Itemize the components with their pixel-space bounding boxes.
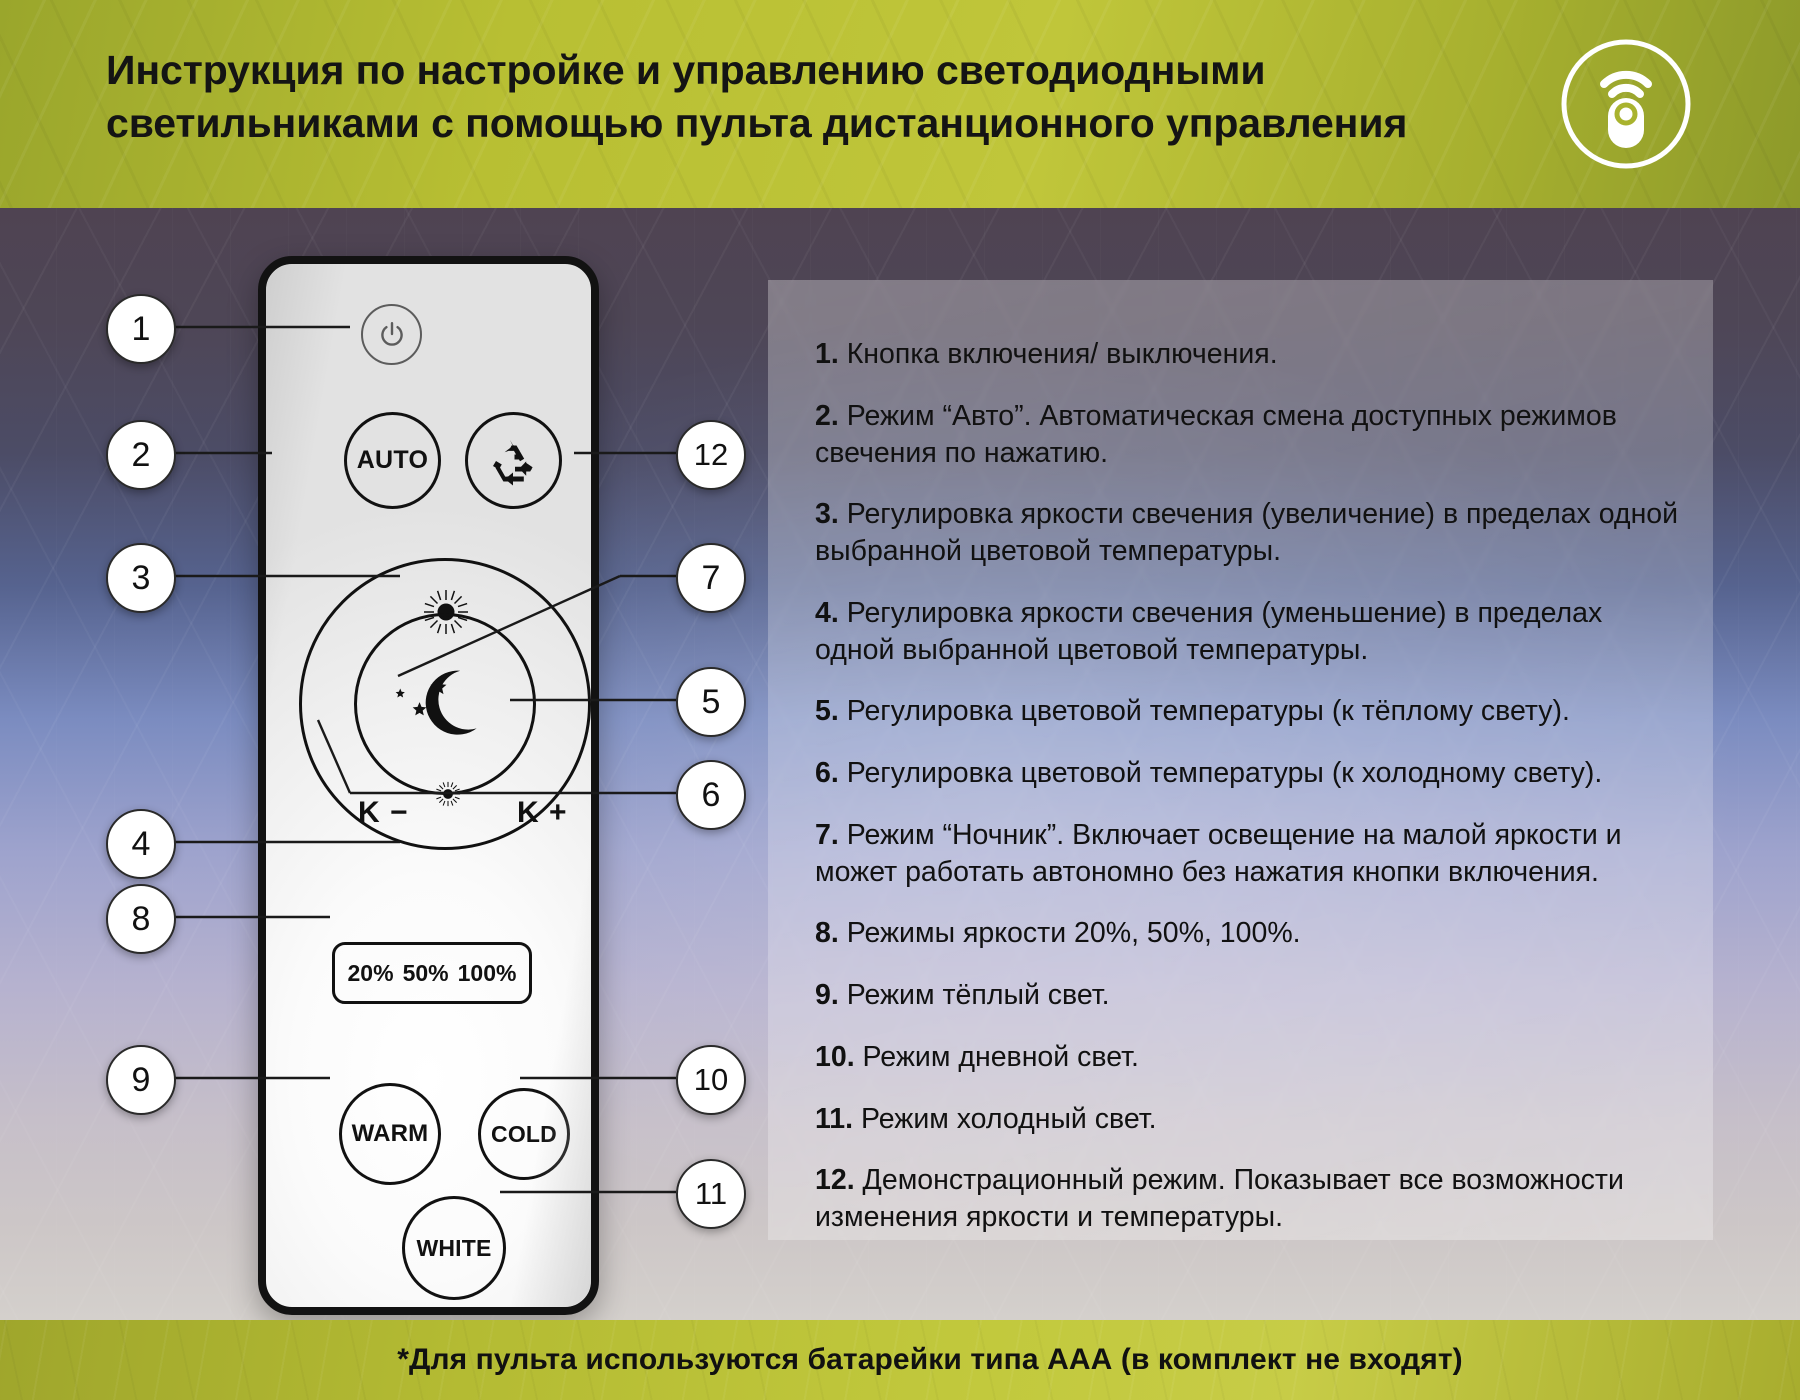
callout-2[interactable]: 2 <box>106 420 176 490</box>
page-title: Инструкция по настройке и управлению све… <box>106 44 1446 151</box>
power-icon <box>377 320 407 350</box>
callout-5[interactable]: 5 <box>676 667 746 737</box>
legend-text-2: Режим “Авто”. Автоматическая смена досту… <box>815 400 1617 469</box>
warm-button-label: WARM <box>352 1120 429 1148</box>
legend-item-3: 3. Регулировка яркости свечения (увеличе… <box>815 496 1685 570</box>
legend-text-11: Режим холодный свет. <box>861 1103 1157 1135</box>
moon-stars-icon <box>391 660 499 748</box>
legend-num-10: 10. <box>815 1041 855 1073</box>
k-minus-button[interactable]: K − <box>358 796 409 830</box>
infographic-page: Инструкция по настройке и управлению све… <box>0 0 1800 1400</box>
legend-item-2: 2. Режим “Авто”. Автоматическая смена до… <box>815 398 1685 472</box>
auto-button-label: AUTO <box>357 446 429 475</box>
cold-button[interactable]: COLD <box>478 1088 570 1180</box>
legend-text-3: Регулировка яркости свечения (увеличение… <box>815 498 1678 567</box>
callout-4[interactable]: 4 <box>106 809 176 879</box>
page-footer: *Для пульта используются батарейки типа … <box>0 1320 1800 1400</box>
legend-list: 1. Кнопка включения/ выключения. 2. Режи… <box>815 336 1685 1261</box>
demo-button[interactable] <box>465 412 562 509</box>
callout-3[interactable]: 3 <box>106 543 176 613</box>
white-button[interactable]: WHITE <box>402 1196 506 1300</box>
callout-11[interactable]: 11 <box>676 1159 746 1229</box>
preset-50[interactable]: 50% <box>403 960 449 987</box>
k-plus-button[interactable]: K + <box>517 796 568 830</box>
night-mode-button[interactable] <box>354 613 536 795</box>
legend-item-4: 4. Регулировка яркости свечения (уменьше… <box>815 595 1685 669</box>
legend-text-8: Режимы яркости 20%, 50%, 100%. <box>847 917 1301 949</box>
legend-item-11: 11. Режим холодный свет. <box>815 1101 1685 1138</box>
legend-num-6: 6. <box>815 757 839 789</box>
main-content: AUTO <box>0 208 1800 1320</box>
legend-num-9: 9. <box>815 979 839 1011</box>
warm-button[interactable]: WARM <box>339 1083 441 1185</box>
legend-text-12: Демонстрационный режим. Показывает все в… <box>815 1164 1624 1233</box>
legend-text-6: Регулировка цветовой температуры (к холо… <box>847 757 1603 789</box>
legend-num-2: 2. <box>815 400 839 432</box>
legend-item-9: 9. Режим тёплый свет. <box>815 977 1685 1014</box>
page-title-line1: Инструкция по настройке и управлению све… <box>106 47 1266 93</box>
legend-num-12: 12. <box>815 1164 855 1196</box>
legend-text-4: Регулировка яркости свечения (уменьшение… <box>815 597 1602 666</box>
cold-button-label: COLD <box>491 1121 557 1148</box>
legend-num-5: 5. <box>815 695 839 727</box>
legend-num-11: 11. <box>815 1103 853 1135</box>
callout-9[interactable]: 9 <box>106 1045 176 1115</box>
legend-text-9: Режим тёплый свет. <box>847 979 1110 1011</box>
legend-item-8: 8. Режимы яркости 20%, 50%, 100%. <box>815 915 1685 952</box>
legend-num-1: 1. <box>815 338 839 370</box>
remote-control-signal-icon <box>1556 34 1696 174</box>
recycle-loop-icon <box>487 434 541 488</box>
white-button-label: WHITE <box>416 1235 491 1262</box>
callout-12[interactable]: 12 <box>676 420 746 490</box>
legend-item-1: 1. Кнопка включения/ выключения. <box>815 336 1685 373</box>
brightness-presets[interactable]: 20% 50% 100% <box>332 942 532 1004</box>
legend-text-5: Регулировка цветовой температуры (к тёпл… <box>847 695 1570 727</box>
callout-7[interactable]: 7 <box>676 543 746 613</box>
legend-text-1: Кнопка включения/ выключения. <box>847 338 1278 370</box>
page-title-line2: светильниками с помощью пульта дистанцио… <box>106 97 1446 150</box>
power-button[interactable] <box>361 304 422 365</box>
legend-item-5: 5. Регулировка цветовой температуры (к т… <box>815 693 1685 730</box>
legend-item-12: 12. Демонстрационный режим. Показывает в… <box>815 1162 1685 1236</box>
preset-20[interactable]: 20% <box>348 960 394 987</box>
callout-8[interactable]: 8 <box>106 884 176 954</box>
legend-num-8: 8. <box>815 917 839 949</box>
legend-item-6: 6. Регулировка цветовой температуры (к х… <box>815 755 1685 792</box>
page-header: Инструкция по настройке и управлению све… <box>0 0 1800 208</box>
callout-1[interactable]: 1 <box>106 294 176 364</box>
footer-note: *Для пульта используются батарейки типа … <box>0 1320 1800 1400</box>
legend-num-3: 3. <box>815 498 839 530</box>
callout-10[interactable]: 10 <box>676 1045 746 1115</box>
legend-item-10: 10. Режим дневной свет. <box>815 1039 1685 1076</box>
legend-text-10: Режим дневной свет. <box>863 1041 1139 1073</box>
legend-num-4: 4. <box>815 597 839 629</box>
preset-100[interactable]: 100% <box>458 960 517 987</box>
legend-item-7: 7. Режим “Ночник”. Включает освещение на… <box>815 817 1685 891</box>
auto-button[interactable]: AUTO <box>344 412 441 509</box>
legend-num-7: 7. <box>815 819 839 851</box>
callout-6[interactable]: 6 <box>676 760 746 830</box>
remote-control-body: AUTO <box>258 256 599 1315</box>
legend-text-7: Режим “Ночник”. Включает освещение на ма… <box>815 819 1622 888</box>
